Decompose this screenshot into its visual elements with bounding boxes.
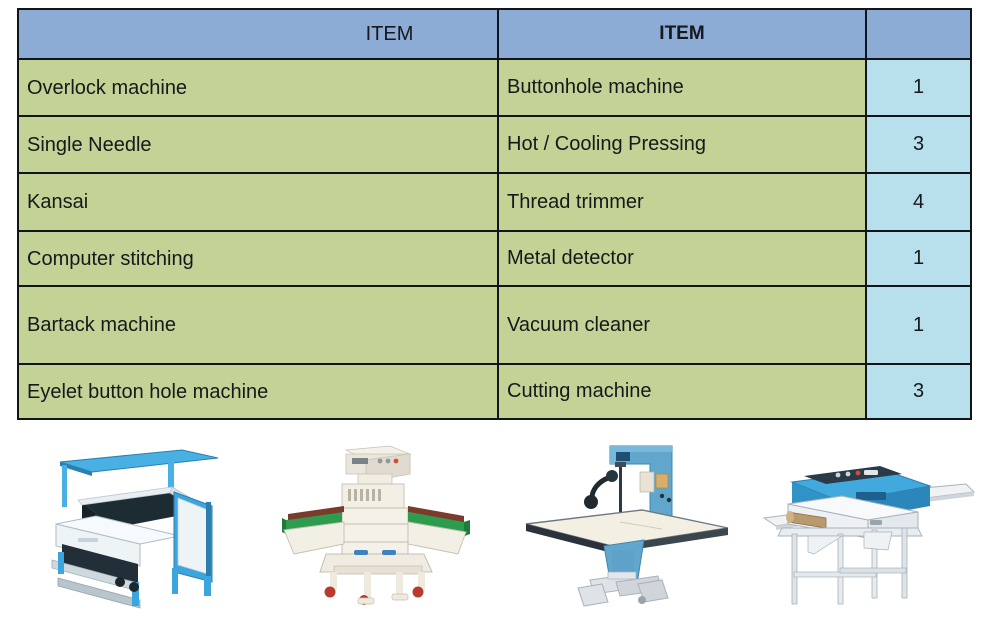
item-label: Cutting machine <box>498 364 866 419</box>
fusing-pressing-machine-photo <box>752 432 982 617</box>
item-label: Hot / Cooling Pressing <box>498 116 866 173</box>
item-quantity: 3 <box>866 116 971 173</box>
table-row: Vacuum cleaner 1 <box>498 286 971 364</box>
table-header-row: ITEM <box>498 9 971 59</box>
item-quantity: 1 <box>866 286 971 364</box>
item-quantity: 1 <box>866 231 971 286</box>
machine-photo-strip <box>0 432 998 623</box>
column-header-item-right: ITEM <box>498 9 866 59</box>
column-header-qty-right <box>866 9 971 59</box>
table-row: Cutting machine 3 <box>498 364 971 419</box>
fabric-inspection-machine-photo <box>22 432 252 617</box>
item-quantity: 3 <box>866 364 971 419</box>
table-row: Hot / Cooling Pressing 3 <box>498 116 971 173</box>
item-label: Vacuum cleaner <box>498 286 866 364</box>
table-row: Metal detector 1 <box>498 231 971 286</box>
metal-detector-machine-photo <box>268 432 498 617</box>
equipment-table-right: ITEM Buttonhole machine 1 Hot / Cooling … <box>497 8 972 420</box>
item-quantity: 4 <box>866 173 971 231</box>
item-label: Metal detector <box>498 231 866 286</box>
item-label: Thread trimmer <box>498 173 866 231</box>
band-knife-cutting-machine-photo <box>512 432 742 617</box>
item-quantity: 1 <box>866 59 971 116</box>
item-label: Buttonhole machine <box>498 59 866 116</box>
table-row: Thread trimmer 4 <box>498 173 971 231</box>
table-row: Buttonhole machine 1 <box>498 59 971 116</box>
